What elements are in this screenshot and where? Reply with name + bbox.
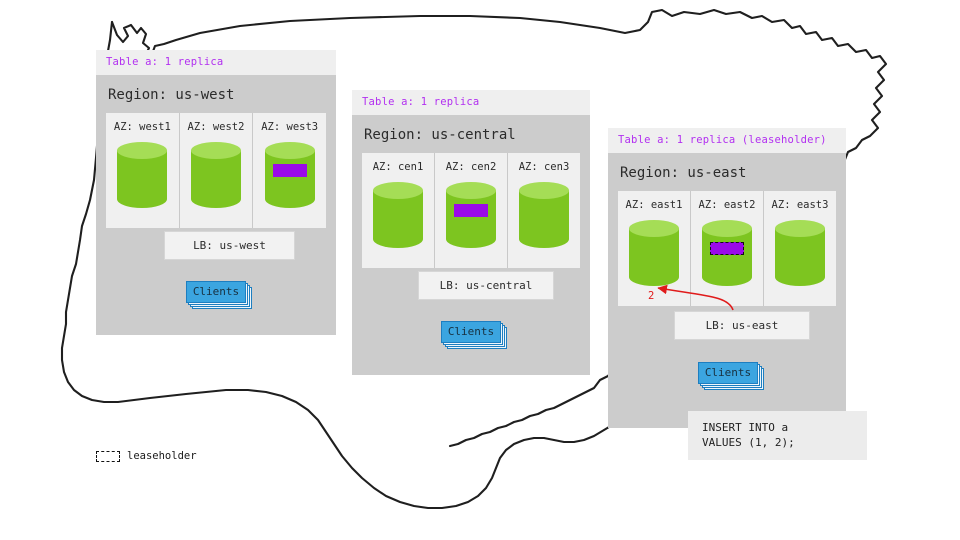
clients-label-us-west: Clients (186, 281, 246, 303)
az-row-us-central: AZ: cen1 AZ: cen2 AZ: cen3 (362, 153, 580, 268)
leaseholder-marker-east2 (710, 242, 744, 255)
cylinder-top (117, 142, 167, 159)
az-card-cen2[interactable]: AZ: cen2 (435, 153, 508, 268)
region-title-us-east: Region: us-east (618, 161, 836, 191)
az-card-cen1[interactable]: AZ: cen1 (362, 153, 435, 268)
node-cylinder-east3[interactable] (775, 220, 825, 292)
clients-stack-us-east[interactable]: Clients (698, 362, 760, 386)
region-banner-us-west: Table a: 1 replica (96, 50, 336, 75)
az-row-us-west: AZ: west1 AZ: west2 AZ: west3 (106, 113, 326, 228)
cylinder-top (191, 142, 241, 159)
node-cylinder-cen3[interactable] (519, 182, 569, 254)
az-label-east2: AZ: east2 (699, 199, 756, 211)
node-cylinder-east1[interactable] (629, 220, 679, 292)
node-cylinder-cen2[interactable] (446, 182, 496, 254)
az-card-east1[interactable]: AZ: east1 (618, 191, 691, 306)
leaseholder-dashed-swatch (96, 451, 120, 462)
replica-marker-west3 (273, 164, 307, 177)
cylinder-top (446, 182, 496, 199)
load-balancer-us-west[interactable]: LB: us-west (164, 231, 295, 260)
region-title-us-central: Region: us-central (362, 123, 580, 153)
az-card-west3[interactable]: AZ: west3 (253, 113, 326, 228)
az-label-west1: AZ: west1 (114, 121, 171, 133)
region-banner-us-central: Table a: 1 replica (352, 90, 590, 115)
az-label-cen1: AZ: cen1 (373, 161, 424, 173)
clients-stack-us-central[interactable]: Clients (441, 321, 503, 345)
load-balancer-us-central[interactable]: LB: us-central (418, 271, 554, 300)
replica-marker-cen2 (454, 204, 488, 217)
az-label-east3: AZ: east3 (772, 199, 829, 211)
node-cylinder-west2[interactable] (191, 142, 241, 214)
arrow-step-label-2: 2 (648, 290, 654, 302)
az-label-west2: AZ: west2 (188, 121, 245, 133)
cylinder-top (702, 220, 752, 237)
sql-statement-note: INSERT INTO a VALUES (1, 2); (688, 411, 867, 460)
az-label-cen2: AZ: cen2 (446, 161, 497, 173)
az-card-west1[interactable]: AZ: west1 (106, 113, 180, 228)
node-cylinder-east2[interactable] (702, 220, 752, 292)
az-label-cen3: AZ: cen3 (519, 161, 570, 173)
cylinder-top (629, 220, 679, 237)
load-balancer-us-east[interactable]: LB: us-east (674, 311, 810, 340)
az-label-west3: AZ: west3 (261, 121, 318, 133)
cylinder-top (519, 182, 569, 199)
diagram-canvas: Table a: 1 replica Region: us-west AZ: w… (0, 0, 960, 540)
clients-label-us-east: Clients (698, 362, 758, 384)
az-card-west2[interactable]: AZ: west2 (180, 113, 254, 228)
legend: leaseholder (96, 450, 197, 462)
node-cylinder-west1[interactable] (117, 142, 167, 214)
az-row-us-east: AZ: east1 AZ: east2 AZ: east3 (618, 191, 836, 306)
az-card-east2[interactable]: AZ: east2 (691, 191, 764, 306)
cylinder-top (265, 142, 315, 159)
clients-label-us-central: Clients (441, 321, 501, 343)
region-title-us-west: Region: us-west (106, 83, 326, 113)
cylinder-top (373, 182, 423, 199)
node-cylinder-cen1[interactable] (373, 182, 423, 254)
az-card-cen3[interactable]: AZ: cen3 (508, 153, 580, 268)
clients-stack-us-west[interactable]: Clients (186, 281, 248, 305)
az-card-east3[interactable]: AZ: east3 (764, 191, 836, 306)
az-label-east1: AZ: east1 (626, 199, 683, 211)
cylinder-top (775, 220, 825, 237)
node-cylinder-west3[interactable] (265, 142, 315, 214)
legend-label: leaseholder (127, 450, 197, 462)
region-banner-us-east: Table a: 1 replica (leaseholder) (608, 128, 846, 153)
